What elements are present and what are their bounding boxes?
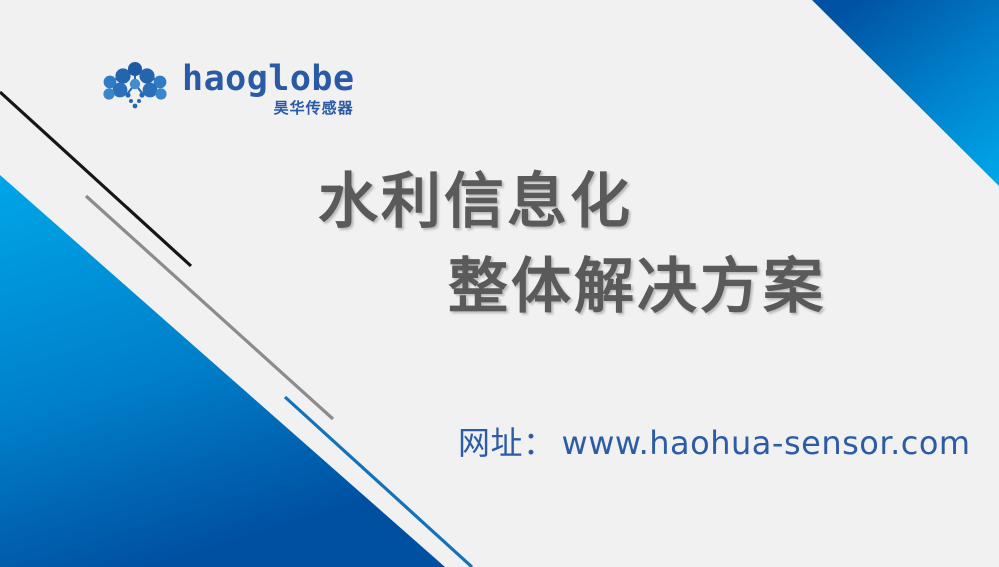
top-right-blue-triangle	[812, 0, 999, 186]
page-title: 水利信息化 整体解决方案	[0, 160, 999, 330]
website-label: 网址：	[458, 418, 556, 464]
website-url[interactable]: www.haohua-sensor.com	[562, 424, 971, 462]
diagonal-line-blue	[285, 397, 472, 567]
title-line-2: 整体解决方案	[0, 245, 999, 330]
website-line: 网址： www.haohua-sensor.com	[458, 418, 971, 464]
brand-chinese-name: 昊华传感器	[274, 101, 354, 116]
brand-logo: haoglobe 昊华传感器	[98, 58, 355, 116]
network-cluster-icon	[98, 60, 172, 112]
title-line-1: 水利信息化	[0, 160, 999, 245]
brand-wordmark: haoglobe	[182, 62, 355, 97]
title-slide: haoglobe 昊华传感器 水利信息化 整体解决方案 网址： www.haoh…	[0, 0, 999, 567]
brand-wordmark-group: haoglobe 昊华传感器	[182, 58, 355, 116]
